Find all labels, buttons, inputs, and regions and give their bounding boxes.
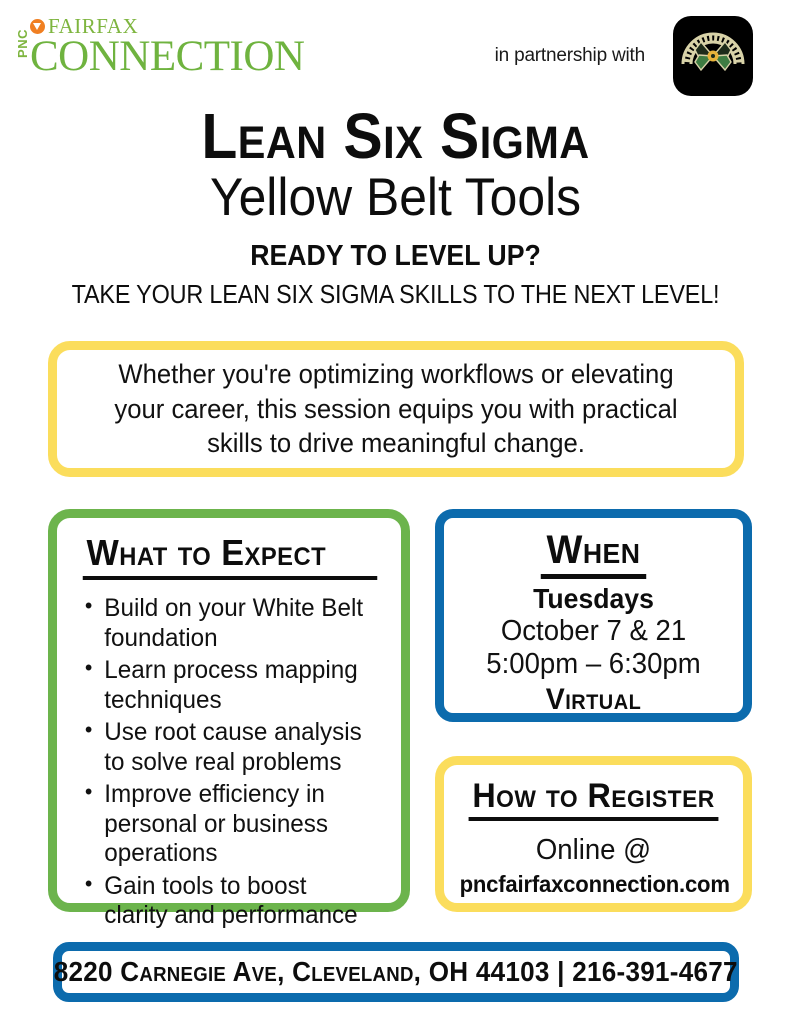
when-mode: Virtual xyxy=(463,683,724,718)
partnership-label: in partnership with xyxy=(495,45,645,67)
what-to-expect-list: Build on your White Belt foundation Lear… xyxy=(75,594,385,931)
pnc-vertical-label: PNC xyxy=(16,29,29,58)
list-item: Improve efficiency in personal or busine… xyxy=(81,780,376,869)
partnership-block: in partnership with xyxy=(495,16,753,96)
kicker-subline: TAKE YOUR LEAN SIX SIGMA SKILLS TO THE N… xyxy=(40,279,752,310)
kicker-headline: READY TO LEVEL UP? xyxy=(32,240,760,273)
list-item: Learn process mapping techniques xyxy=(81,656,376,715)
what-to-expect-heading: What to Expect xyxy=(83,532,378,580)
when-box: When Tuesdays October 7 & 21 5:00pm – 6:… xyxy=(435,509,752,722)
footer-contact-bar: 8220 Carnegie Ave, Cleveland, OH 44103 |… xyxy=(53,942,739,1002)
register-url[interactable]: pncfairfaxconnection.com xyxy=(460,872,728,897)
what-to-expect-box: What to Expect Build on your White Belt … xyxy=(48,509,410,912)
when-day: Tuesdays xyxy=(463,584,724,615)
brand-connection-label: CONNECTION xyxy=(30,37,304,78)
list-item: Gain tools to boost clarity and performa… xyxy=(81,872,376,931)
partner-organization-emblem-icon xyxy=(673,16,753,96)
pnc-fairfax-connection-logo: PNC FAIRFAX CONNECTION xyxy=(16,16,304,78)
brand-wordmark: FAIRFAX CONNECTION xyxy=(30,16,304,78)
pnc-triangle-icon xyxy=(30,19,45,34)
page-title: Lean Six Sigma xyxy=(32,104,760,168)
list-item: Build on your White Belt foundation xyxy=(81,594,376,653)
page-header: PNC FAIRFAX CONNECTION in partnership wi… xyxy=(0,0,791,108)
intro-callout-box: Whether you're optimizing workflows or e… xyxy=(48,341,744,477)
how-to-register-box: How to Register Online @ pncfairfaxconne… xyxy=(435,756,752,912)
list-item: Use root cause analysis to solve real pr… xyxy=(81,718,376,777)
kicker-block: READY TO LEVEL UP? TAKE YOUR LEAN SIX SI… xyxy=(0,240,791,310)
flyer-title-block: Lean Six Sigma Yellow Belt Tools xyxy=(0,104,791,226)
when-dates: October 7 & 21 xyxy=(463,615,724,648)
register-method: Online @ xyxy=(461,835,726,867)
page-subtitle: Yellow Belt Tools xyxy=(24,170,768,226)
how-to-register-heading: How to Register xyxy=(469,777,719,821)
when-time: 5:00pm – 6:30pm xyxy=(463,648,724,681)
intro-text: Whether you're optimizing workflows or e… xyxy=(74,357,718,461)
footer-address-phone: 8220 Carnegie Ave, Cleveland, OH 44103 |… xyxy=(54,956,738,988)
when-heading: When xyxy=(541,528,646,579)
